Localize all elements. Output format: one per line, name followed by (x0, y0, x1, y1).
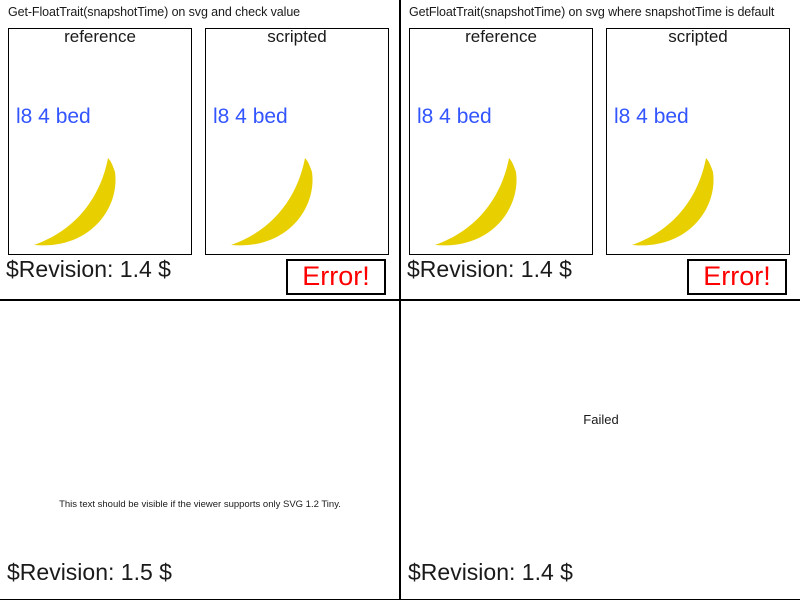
reference-panel-label: reference (8, 27, 192, 47)
test-title: GetFloatTrait(snapshotTime) on svg where… (409, 5, 774, 19)
crescent-moon-icon (20, 150, 140, 260)
scripted-panel-label: scripted (205, 27, 389, 47)
quadrant-bottom-left: This text should be visible if the viewe… (0, 301, 400, 600)
status-badge: Error! (286, 259, 386, 295)
status-badge-label: Error! (288, 263, 384, 290)
quadrant-top-right: GetFloatTrait(snapshotTime) on svg where… (401, 0, 800, 300)
quadrant-top-left: Get-FloatTrait(snapshotTime) on svg and … (0, 0, 400, 300)
revision-label: $Revision: 1.5 $ (7, 559, 172, 586)
status-badge-label: Error! (689, 263, 785, 290)
revision-label: $Revision: 1.4 $ (408, 559, 573, 586)
status-badge: Error! (687, 259, 787, 295)
scripted-panel-label: scripted (606, 27, 790, 47)
reference-trait-value-text: l8 4 bed (417, 105, 492, 129)
svg-tiny-support-note: This text should be visible if the viewe… (0, 499, 400, 510)
test-title: Get-FloatTrait(snapshotTime) on svg and … (8, 5, 300, 19)
failed-note: Failed (401, 412, 800, 427)
crescent-moon-icon (217, 150, 337, 260)
revision-label: $Revision: 1.4 $ (6, 256, 171, 283)
scripted-trait-value-text: l8 4 bed (614, 105, 689, 129)
quadrant-bottom-right: Failed (401, 301, 800, 600)
svg-test-comparison-canvas: Get-FloatTrait(snapshotTime) on svg and … (0, 0, 800, 600)
revision-label: $Revision: 1.4 $ (407, 256, 572, 283)
scripted-trait-value-text: l8 4 bed (213, 105, 288, 129)
crescent-moon-icon (421, 150, 541, 260)
crescent-moon-icon (618, 150, 738, 260)
reference-trait-value-text: l8 4 bed (16, 105, 91, 129)
reference-panel-label: reference (409, 27, 593, 47)
